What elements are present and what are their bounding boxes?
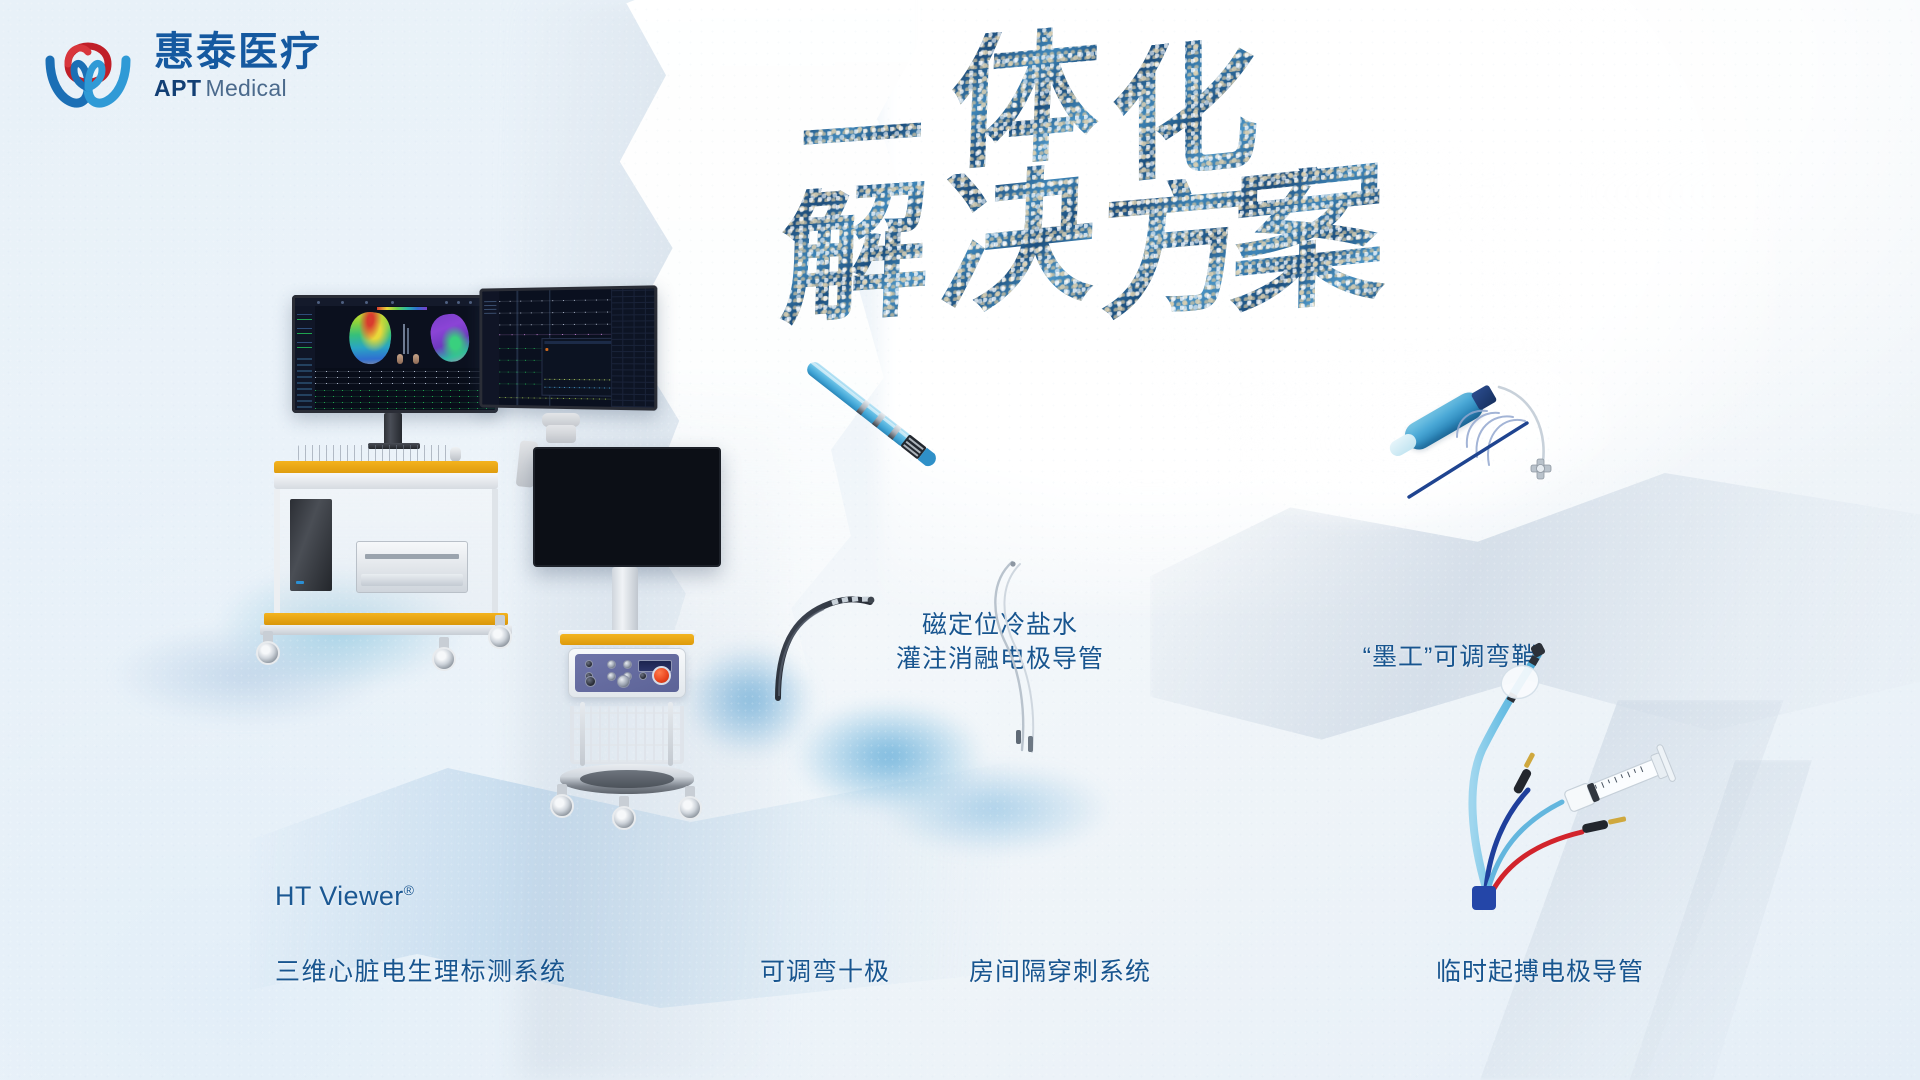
pc-tower (290, 499, 332, 591)
product-ablation-catheter (800, 355, 960, 485)
connector-port[interactable] (607, 660, 616, 669)
brand-name-en-light: Medical (206, 75, 287, 102)
mouse[interactable] (450, 447, 461, 462)
open-folder-icon[interactable]: 历史病例 (663, 489, 680, 510)
brand-wordmark: 惠泰医疗 APT Medical (154, 31, 322, 102)
label-transseptal-system: 房间隔穿刺系统 (930, 955, 1190, 989)
report-printer (356, 541, 468, 593)
brand-logo: 惠泰医疗 APT Medical (38, 18, 322, 114)
ablation-console-touchscreen[interactable]: 新建病例 历史病例 关机 (533, 447, 721, 567)
new-case-icon[interactable]: 新建病例 (632, 489, 649, 510)
settings-icon-caption: 系统设置 (649, 533, 660, 537)
headline-calligraphy: 一 体 化 解 决 方 案 (790, 28, 1350, 328)
irrigation-port[interactable] (617, 675, 630, 688)
apt-medical-logo-mark (38, 18, 138, 114)
heart-wireframe-illustration (539, 455, 647, 561)
headline-char-6: 方 (1099, 173, 1251, 325)
touchscreen-display[interactable]: 新建病例 历史病例 关机 (535, 449, 719, 565)
label-ht-viewer-en: HT Viewer® (275, 877, 567, 917)
touchscreen-icon-group[interactable]: 新建病例 历史病例 关机 (632, 489, 711, 537)
cart-caster (488, 615, 512, 649)
cart-caster (256, 631, 280, 665)
poster-canvas: 惠泰医疗 APT Medical 一 体 化 解 决 方 案 (0, 0, 1920, 1080)
generator-shelf-accent (560, 634, 694, 645)
monitor-arm-segment (546, 425, 576, 443)
cart-base-plate (260, 625, 512, 635)
touchscreen-brand-mark: APT Medical (693, 558, 713, 562)
generator-cart-caster (612, 796, 636, 830)
cart-bottom-accent-bar (264, 613, 508, 625)
cart-top-shelf (274, 473, 498, 489)
brand-name-en: APT Medical (154, 75, 322, 102)
product-transseptal-system (980, 560, 1070, 760)
label-temporary-pacing: 临时起搏电极导管 (1390, 955, 1690, 989)
connector-port[interactable] (639, 672, 647, 680)
label-ht-viewer-cn: 三维心脏电生理标测系统 (275, 954, 567, 991)
power-icon[interactable]: 关机 (694, 489, 711, 510)
new-case-icon-caption: 新建病例 (635, 506, 646, 510)
mapping-monitor (292, 295, 498, 413)
connector-port[interactable] (623, 660, 632, 669)
keyboard[interactable] (298, 445, 448, 461)
brand-name-en-bold: APT (154, 75, 202, 102)
brand-name-cn: 惠泰医疗 (154, 31, 322, 73)
open-folder-icon-caption: 历史病例 (666, 506, 677, 510)
headline-char-7: 案 (1229, 159, 1387, 320)
label-deflectable-decapolar: 可调弯十极 (700, 955, 950, 989)
touchscreen-stand-column (612, 567, 638, 637)
connector-port[interactable] (585, 660, 593, 668)
cart-caster (432, 637, 456, 671)
generator-cart-caster (550, 784, 574, 818)
headline-char-4: 解 (778, 180, 932, 329)
generator-cart-caster (678, 786, 702, 820)
product-deflectable-decapolar (770, 580, 890, 700)
label-ht-viewer: HT Viewer® 三维心脏电生理标测系统 (275, 840, 567, 1028)
grounding-pad-port[interactable] (585, 676, 596, 687)
mapping-monitor-stem (384, 413, 402, 445)
connector-port[interactable] (607, 672, 616, 681)
product-steerable-sheath (1395, 365, 1635, 505)
generator-cart (556, 700, 698, 822)
rf-generator[interactable] (568, 648, 686, 698)
power-icon-caption: 关机 (700, 506, 706, 510)
cart-basket (570, 706, 684, 764)
product-temporary-pacing-catheter (1470, 640, 1770, 910)
rf-generator-panel[interactable] (575, 654, 679, 692)
cart-base-inner (580, 770, 674, 788)
recording-monitor (479, 285, 657, 410)
rf-power-knob[interactable] (652, 666, 671, 685)
headline-char-5: 决 (938, 159, 1098, 320)
settings-icon[interactable]: 系统设置 (646, 516, 663, 537)
